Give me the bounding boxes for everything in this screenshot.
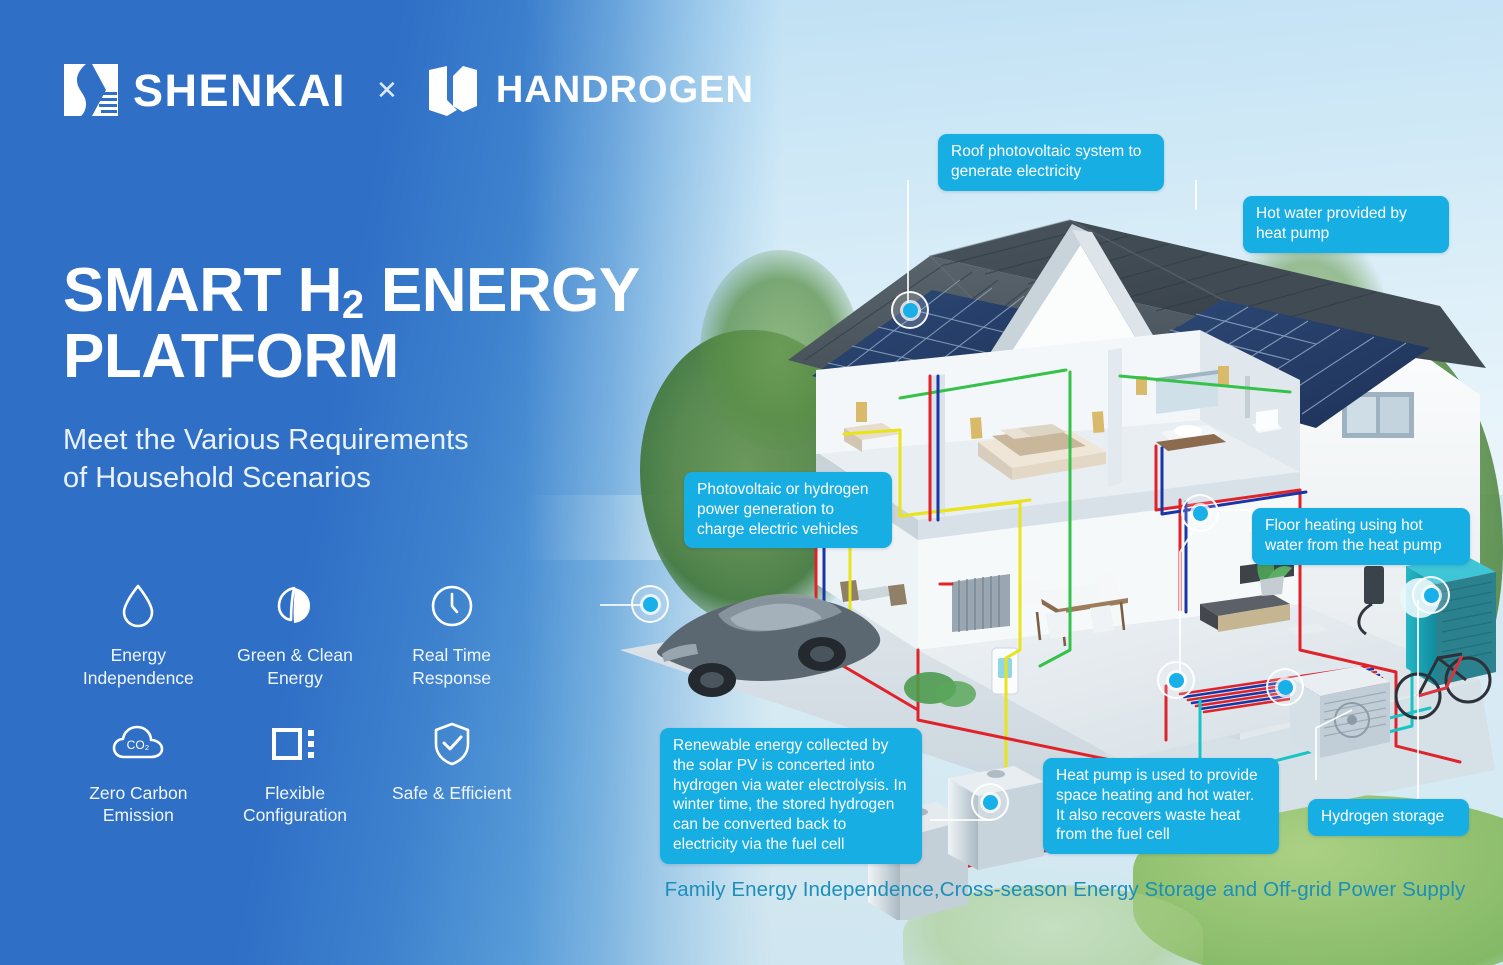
footer-caption: Family Energy Independence,Cross-season … [650,878,1480,902]
hotspot-heat-pump[interactable] [1266,668,1304,706]
radiator [952,574,1010,632]
feature-label-l1: Safe & Efficient [392,783,511,803]
callout-hydrogen-storage[interactable]: Hydrogen storage [1308,799,1469,836]
feature-label-l2: Energy [267,668,322,688]
hotspot-fuel-cell[interactable] [971,783,1009,821]
callout-hot-water[interactable]: Hot water provided by heat pump [1243,196,1449,253]
feature-zero-carbon-emission: CO₂ Zero Carbon Emission [60,718,217,828]
shield-check-icon [430,718,474,770]
leaf-icon [273,580,317,632]
feature-label: Flexible Configuration [243,782,347,828]
title-line1-pre: SMART H [63,256,342,325]
hotspot-ev-charge[interactable] [631,585,669,623]
clock-icon [429,580,475,632]
water-drop-icon [118,580,158,632]
feature-label-l2: Configuration [243,805,347,825]
callout-heat-pump[interactable]: Heat pump is used to provide space heati… [1043,758,1279,854]
feature-label: Energy Independence [83,644,194,690]
feature-label: Safe & Efficient [392,782,511,805]
feature-green-clean-energy: Green & Clean Energy [217,580,374,690]
feature-flexible-configuration: Flexible Configuration [217,718,374,828]
shenkai-logo-icon [62,62,120,118]
feature-label-l2: Independence [83,668,194,688]
title-line1-post: ENERGY [364,256,640,325]
feature-label-l2: Response [412,668,491,688]
feature-label: Zero Carbon Emission [89,782,187,828]
brand-name-handrogen: HANDROGEN [496,71,754,109]
feature-real-time-response: Real Time Response [373,580,530,690]
hotspot-hot-water[interactable] [1181,494,1219,532]
svg-text:CO₂: CO₂ [127,738,150,752]
hotspot-hydrogen-storage[interactable] [1412,576,1450,614]
feature-safe-efficient: Safe & Efficient [373,718,530,828]
handrogen-logo-icon [426,64,480,116]
feature-label-l1: Zero Carbon [89,783,187,803]
feature-label-l1: Flexible [265,783,325,803]
callout-floor-heating[interactable]: Floor heating using hot water from the h… [1252,508,1470,565]
brand-separator-icon: ✕ [376,75,398,106]
feature-label: Real Time Response [412,644,491,690]
feature-label-l1: Real Time [412,645,491,665]
infographic-poster: SHENKAI ✕ HANDROGEN SMART H2 ENERGYPLATF… [0,0,1503,965]
feature-label: Green & Clean Energy [237,644,353,690]
title-subscript: 2 [342,283,364,327]
brand-lockup: SHENKAI ✕ HANDROGEN [62,62,754,118]
feature-list: Energy Independence Green & Clean Energy [60,580,530,827]
callout-ev-charge[interactable]: Photovoltaic or hydrogen power generatio… [684,472,892,548]
callout-roof-pv[interactable]: Roof photovoltaic system to generate ele… [938,134,1164,191]
title-line2: PLATFORM [63,322,399,391]
heat-pump-condenser [1290,666,1390,758]
hotspot-floor-heating[interactable] [1157,661,1195,699]
feature-label-l1: Green & Clean [237,645,353,665]
callout-fuel-cell[interactable]: Renewable energy collected by the solar … [660,728,922,864]
feature-label-l1: Energy [111,645,166,665]
brand-name-shenkai: SHENKAI [133,68,346,113]
co2-cloud-icon: CO₂ [110,718,166,770]
feature-label-l2: Emission [103,805,174,825]
modular-blocks-icon [270,718,320,770]
hotspot-roof-pv[interactable] [891,291,929,329]
leader-hot-water [1196,180,1240,210]
feature-energy-independence: Energy Independence [60,580,217,690]
